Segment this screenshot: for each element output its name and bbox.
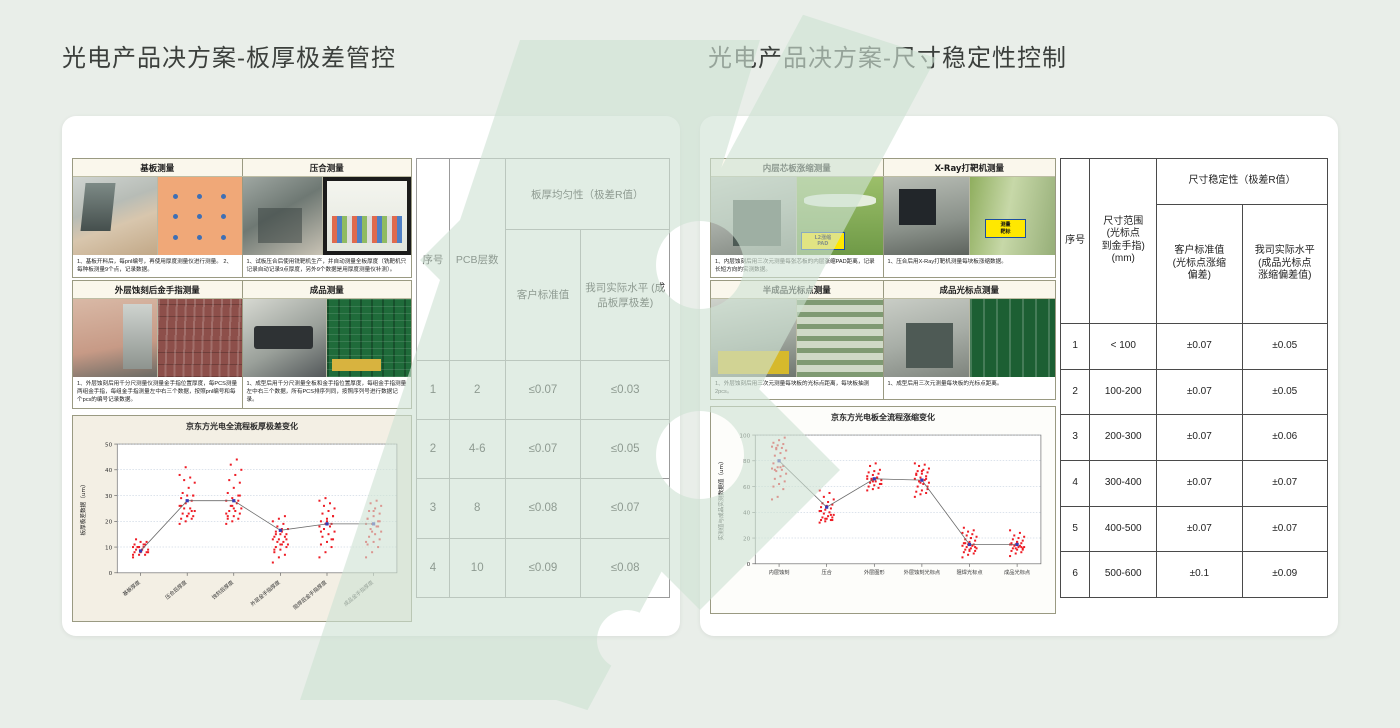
cell-index: 2 bbox=[417, 420, 450, 479]
cell-actual: ±0.07 bbox=[1242, 506, 1327, 552]
cell-index: 4 bbox=[417, 538, 450, 597]
th-our-level: 我司实际水平 (成品板厚极差) bbox=[581, 230, 670, 361]
photo-block-note: 1、试板压合后使用铣靶机生产，并自动测量全板厚度（铣靶机只记录自动记录9点厚度，… bbox=[242, 255, 412, 277]
photo-finished-strip bbox=[969, 299, 1055, 377]
svg-text:压合后厚度: 压合后厚度 bbox=[163, 577, 189, 600]
svg-text:20: 20 bbox=[105, 519, 113, 525]
photo-substrate-points bbox=[157, 177, 242, 255]
svg-text:10: 10 bbox=[105, 545, 113, 551]
th-our-level: 我司实际水平 (成品光标点 涨缩偏差值) bbox=[1242, 204, 1327, 323]
cell-standard: ±0.07 bbox=[1157, 415, 1242, 461]
cell-actual: ±0.05 bbox=[1242, 369, 1327, 415]
cell-standard: ±0.1 bbox=[1157, 552, 1242, 598]
photo-block: 外层蚀刻后金手指测量 成品测量 1、外层蚀刻后用千分尺测量仪测量金手指位置厚度，… bbox=[72, 280, 412, 408]
cell-index: 1 bbox=[1061, 323, 1090, 369]
photo-target-mark: 测量 靶标 bbox=[969, 177, 1055, 255]
cell-index: 3 bbox=[417, 479, 450, 538]
photo-finished-board bbox=[326, 299, 411, 377]
th-customer-standard: 客户标准值 bbox=[505, 230, 581, 361]
chart-thickness-range: 京东方光电全流程板厚极差变化 01020304050板厚极差数据（um）基板厚度… bbox=[72, 415, 412, 622]
cell-index: 6 bbox=[1061, 552, 1090, 598]
photo-block-headers: 半成品光标点测量 成品光标点测量 bbox=[711, 281, 1055, 299]
photo-block: 半成品光标点测量 成品光标点测量 1、外层蚀刻后用三次元测量每块板的光标点距离，… bbox=[710, 280, 1056, 400]
svg-text:内层蚀刻: 内层蚀刻 bbox=[769, 568, 790, 576]
photo-block-header: 半成品光标点测量 bbox=[711, 281, 883, 298]
svg-text:基板厚度: 基板厚度 bbox=[121, 577, 143, 597]
photo-l2-pad: L2涨缩 PAD bbox=[796, 177, 882, 255]
cell-actual: ±0.07 bbox=[1242, 460, 1327, 506]
svg-text:0: 0 bbox=[747, 563, 751, 569]
table-row: 2 4-6 ≤0.07 ≤0.05 bbox=[417, 420, 670, 479]
photo-block-note: 1、外层蚀刻后用三次元测量每块板的光标点距离，每块板抽测2pcs。 bbox=[711, 377, 883, 399]
photo-cmm-room bbox=[711, 177, 796, 255]
photo-panel-stack bbox=[796, 299, 882, 377]
cell-range: 200-300 bbox=[1090, 415, 1157, 461]
cell-actual: ±0.09 bbox=[1242, 552, 1327, 598]
cell-standard: ≤0.07 bbox=[505, 360, 581, 419]
th-index: 序号 bbox=[417, 159, 450, 361]
chart-title: 京东方光电板全流程涨缩变化 bbox=[711, 407, 1055, 425]
cell-index: 3 bbox=[1061, 415, 1090, 461]
photo-block-header: 内层芯板涨缩测量 bbox=[711, 159, 883, 176]
th-layers: PCB层数 bbox=[449, 159, 505, 361]
svg-text:外层蚀刻光标点: 外层蚀刻光标点 bbox=[904, 568, 941, 576]
svg-text:50: 50 bbox=[105, 442, 113, 448]
th-group: 尺寸稳定性（极差R值） bbox=[1157, 159, 1328, 205]
table-row: 1 < 100 ±0.07 ±0.05 bbox=[1061, 323, 1328, 369]
table-row: 4 300-400 ±0.07 ±0.07 bbox=[1061, 460, 1328, 506]
svg-text:20: 20 bbox=[743, 537, 751, 543]
table-row: 5 400-500 ±0.07 ±0.07 bbox=[1061, 506, 1328, 552]
photo-lamination-screen bbox=[322, 177, 411, 255]
photo-block-note: 1、外层蚀刻后用千分尺测量仪测量金手指位置厚度，每PCS测量两组金手指，每组金手… bbox=[73, 377, 242, 407]
svg-text:100: 100 bbox=[739, 434, 750, 440]
th-customer-standard: 客户标准值 (光标点涨缩 偏差) bbox=[1157, 204, 1242, 323]
table-row: 4 10 ≤0.09 ≤0.08 bbox=[417, 538, 670, 597]
card-right: 内层芯板涨缩测量 X-Ray打靶机测量 L2涨缩 PAD 测量 靶标 bbox=[700, 116, 1338, 636]
yellow-tag-l2pad: L2涨缩 PAD bbox=[801, 232, 845, 251]
photo-cmm-semifinished bbox=[711, 299, 796, 377]
svg-text:成品金手指厚度: 成品金手指厚度 bbox=[342, 577, 376, 607]
cell-index: 1 bbox=[417, 360, 450, 419]
svg-text:40: 40 bbox=[743, 511, 751, 517]
cell-actual: ≤0.05 bbox=[581, 420, 670, 479]
svg-text:30: 30 bbox=[105, 494, 113, 500]
photo-block-note: 1、成型后用三次元测量每块板的光标点距离。 bbox=[883, 377, 1056, 399]
th-index: 序号 bbox=[1061, 159, 1090, 324]
chart-canvas: 020406080100实测值与成品实测数据值（um）内层蚀刻压合外层图形外层蚀… bbox=[711, 425, 1055, 612]
photo-substrate-gauge bbox=[73, 177, 157, 255]
table-row: 2 100-200 ±0.07 ±0.05 bbox=[1061, 369, 1328, 415]
cell-index: 4 bbox=[1061, 460, 1090, 506]
page-title-left: 光电产品决方案-板厚极差管控 bbox=[62, 38, 396, 73]
photo-block: 内层芯板涨缩测量 X-Ray打靶机测量 L2涨缩 PAD 测量 靶标 bbox=[710, 158, 1056, 278]
cell-layers: 4-6 bbox=[449, 420, 505, 479]
cell-actual: ±0.05 bbox=[1242, 323, 1327, 369]
photo-block-header: 外层蚀刻后金手指测量 bbox=[73, 281, 242, 298]
photo-block-note: 1、成型后用千分尺测量全板和金手指位置厚度，每组金手指测量左中右三个数据，所有P… bbox=[242, 377, 412, 407]
cell-layers: 10 bbox=[449, 538, 505, 597]
table-row: 1 2 ≤0.07 ≤0.03 bbox=[417, 360, 670, 419]
cell-actual: ≤0.07 bbox=[581, 479, 670, 538]
photo-block-headers: 基板测量 压合测量 bbox=[73, 159, 411, 177]
photo-goldfinger-closeup bbox=[157, 299, 242, 377]
right-table-wrap: 序号 尺寸范围 (光标点 到金手指) (mm) 尺寸稳定性（极差R值） 客户标准… bbox=[1056, 158, 1328, 598]
svg-text:阻焊光标点: 阻焊光标点 bbox=[956, 568, 982, 576]
cell-actual: ≤0.08 bbox=[581, 538, 670, 597]
photo-etch-gauge bbox=[73, 299, 157, 377]
photo-micrometer bbox=[243, 299, 327, 377]
cell-standard: ±0.07 bbox=[1157, 506, 1242, 552]
chart-canvas: 01020304050板厚极差数据（um）基板厚度压合后厚度蚀刻后厚度外层金手指… bbox=[73, 434, 411, 621]
yellow-tag-target: 测量 靶标 bbox=[985, 219, 1026, 238]
svg-text:60: 60 bbox=[743, 485, 751, 491]
cell-range: 500-600 bbox=[1090, 552, 1157, 598]
photo-block: 基板测量 压合测量 bbox=[72, 158, 412, 278]
right-photo-column: 内层芯板涨缩测量 X-Ray打靶机测量 L2涨缩 PAD 测量 靶标 bbox=[710, 158, 1056, 598]
photo-block-header: 成品光标点测量 bbox=[883, 281, 1056, 298]
left-photo-column: 基板测量 压合测量 bbox=[72, 158, 412, 598]
cell-standard: ±0.07 bbox=[1157, 460, 1242, 506]
cell-standard: ±0.07 bbox=[1157, 323, 1242, 369]
svg-text:板厚极差数据（um）: 板厚极差数据（um） bbox=[79, 481, 87, 535]
svg-text:蚀刻后厚度: 蚀刻后厚度 bbox=[210, 577, 236, 600]
svg-text:实测值与成品实测数据值（um）: 实测值与成品实测数据值（um） bbox=[717, 459, 725, 541]
photo-block-header: 基板测量 bbox=[73, 159, 242, 176]
svg-text:40: 40 bbox=[105, 468, 113, 474]
chart-title: 京东方光电全流程板厚极差变化 bbox=[73, 416, 411, 434]
svg-text:阻焊后金手指厚度: 阻焊后金手指厚度 bbox=[291, 577, 329, 610]
photo-block-headers: 外层蚀刻后金手指测量 成品测量 bbox=[73, 281, 411, 299]
card-left: 基板测量 压合测量 bbox=[62, 116, 680, 636]
cell-range: 100-200 bbox=[1090, 369, 1157, 415]
table-row: 3 200-300 ±0.07 ±0.06 bbox=[1061, 415, 1328, 461]
photo-xray-machine bbox=[884, 177, 969, 255]
thickness-spec-table: 序号 PCB层数 板厚均匀性（极差R值） 客户标准值 我司实际水平 (成品板厚极… bbox=[416, 158, 670, 598]
chart-dimension-stability: 京东方光电板全流程涨缩变化 020406080100实测值与成品实测数据值（um… bbox=[710, 406, 1056, 613]
photo-lamination-line bbox=[243, 177, 323, 255]
photo-block-note: 1、压合后用X-Ray打靶机测量每块板涨缩数据。 bbox=[883, 255, 1056, 277]
cell-actual: ±0.06 bbox=[1242, 415, 1327, 461]
th-group: 板厚均匀性（极差R值） bbox=[505, 159, 669, 230]
cell-range: 300-400 bbox=[1090, 460, 1157, 506]
cell-standard: ≤0.07 bbox=[505, 420, 581, 479]
cell-standard: ≤0.09 bbox=[505, 538, 581, 597]
svg-text:外层金手指厚度: 外层金手指厚度 bbox=[249, 577, 283, 607]
left-table-wrap: 序号 PCB层数 板厚均匀性（极差R值） 客户标准值 我司实际水平 (成品板厚极… bbox=[412, 158, 670, 598]
cell-layers: 2 bbox=[449, 360, 505, 419]
th-size-range: 尺寸范围 (光标点 到金手指) (mm) bbox=[1090, 159, 1157, 324]
cell-index: 5 bbox=[1061, 506, 1090, 552]
page-title-right: 光电产品决方案-尺寸稳定性控制 bbox=[708, 38, 1067, 73]
cell-standard: ≤0.08 bbox=[505, 479, 581, 538]
cell-range: < 100 bbox=[1090, 323, 1157, 369]
cell-index: 2 bbox=[1061, 369, 1090, 415]
photo-block-header: X-Ray打靶机测量 bbox=[883, 159, 1056, 176]
photo-cmm-finished bbox=[884, 299, 969, 377]
photo-block-note: 1、基板开料后，每pnl编号，再使用厚度测量仪进行测量。 2、每种板测量9个点，… bbox=[73, 255, 242, 277]
table-row: 3 8 ≤0.08 ≤0.07 bbox=[417, 479, 670, 538]
photo-block-note: 1、内层蚀刻后用三次元测量每张芯板的内层涨缩PAD距离，记录长短方向的实测数据。 bbox=[711, 255, 883, 277]
cell-layers: 8 bbox=[449, 479, 505, 538]
dimension-spec-table: 序号 尺寸范围 (光标点 到金手指) (mm) 尺寸稳定性（极差R值） 客户标准… bbox=[1060, 158, 1328, 598]
table-row: 6 500-600 ±0.1 ±0.09 bbox=[1061, 552, 1328, 598]
cell-actual: ≤0.03 bbox=[581, 360, 670, 419]
svg-text:外层图形: 外层图形 bbox=[864, 568, 886, 576]
svg-text:压合: 压合 bbox=[821, 568, 832, 576]
cell-standard: ±0.07 bbox=[1157, 369, 1242, 415]
svg-text:0: 0 bbox=[109, 571, 113, 577]
photo-block-header: 压合测量 bbox=[242, 159, 412, 176]
svg-text:80: 80 bbox=[743, 460, 751, 466]
cell-range: 400-500 bbox=[1090, 506, 1157, 552]
photo-block-header: 成品测量 bbox=[242, 281, 412, 298]
svg-text:成品光标点: 成品光标点 bbox=[1004, 568, 1030, 576]
photo-block-headers: 内层芯板涨缩测量 X-Ray打靶机测量 bbox=[711, 159, 1055, 177]
